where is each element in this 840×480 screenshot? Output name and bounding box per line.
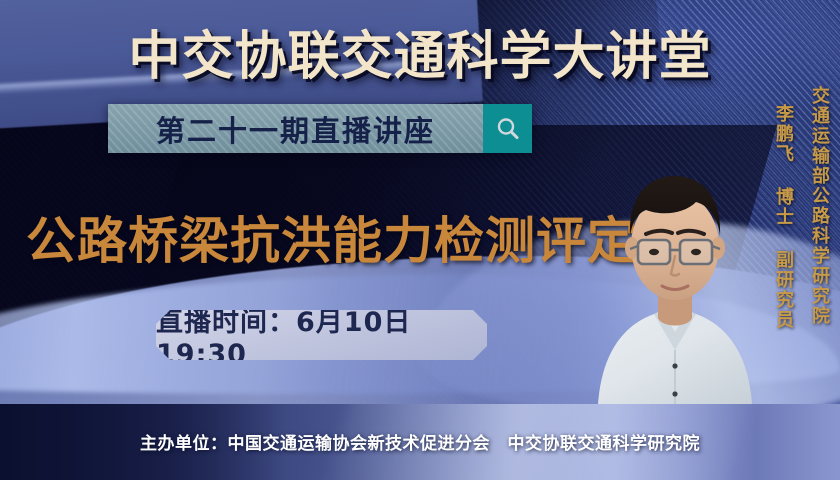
speaker-name-title: 李鹏飞 博士 副研究员 <box>770 104 796 330</box>
search-icon[interactable] <box>483 104 532 153</box>
episode-subtitle-bar: 第二十一期直播讲座 <box>108 104 532 153</box>
speaker-portrait <box>592 118 758 404</box>
episode-subtitle-label: 第二十一期直播讲座 <box>156 108 435 150</box>
speaker-organization: 交通运输部公路科学研究院 <box>806 86 832 326</box>
organizers-text: 主办单位：中国交通运输协会新技术促进分会 中交协联交通科学研究院 <box>0 429 840 454</box>
episode-subtitle-panel: 第二十一期直播讲座 <box>108 104 483 153</box>
page-title: 中交协联交通科学大讲堂 <box>0 14 840 89</box>
broadcast-time-text: 直播时间：6月10日19:30 <box>156 300 487 370</box>
broadcast-time-badge: 直播时间：6月10日19:30 <box>156 310 487 360</box>
webinar-poster: 中交协联交通科学大讲堂 第二十一期直播讲座 公路桥梁抗洪能力检测评定 直播时间：… <box>0 0 840 480</box>
lecture-headline: 公路桥梁抗洪能力检测评定 <box>26 201 638 273</box>
